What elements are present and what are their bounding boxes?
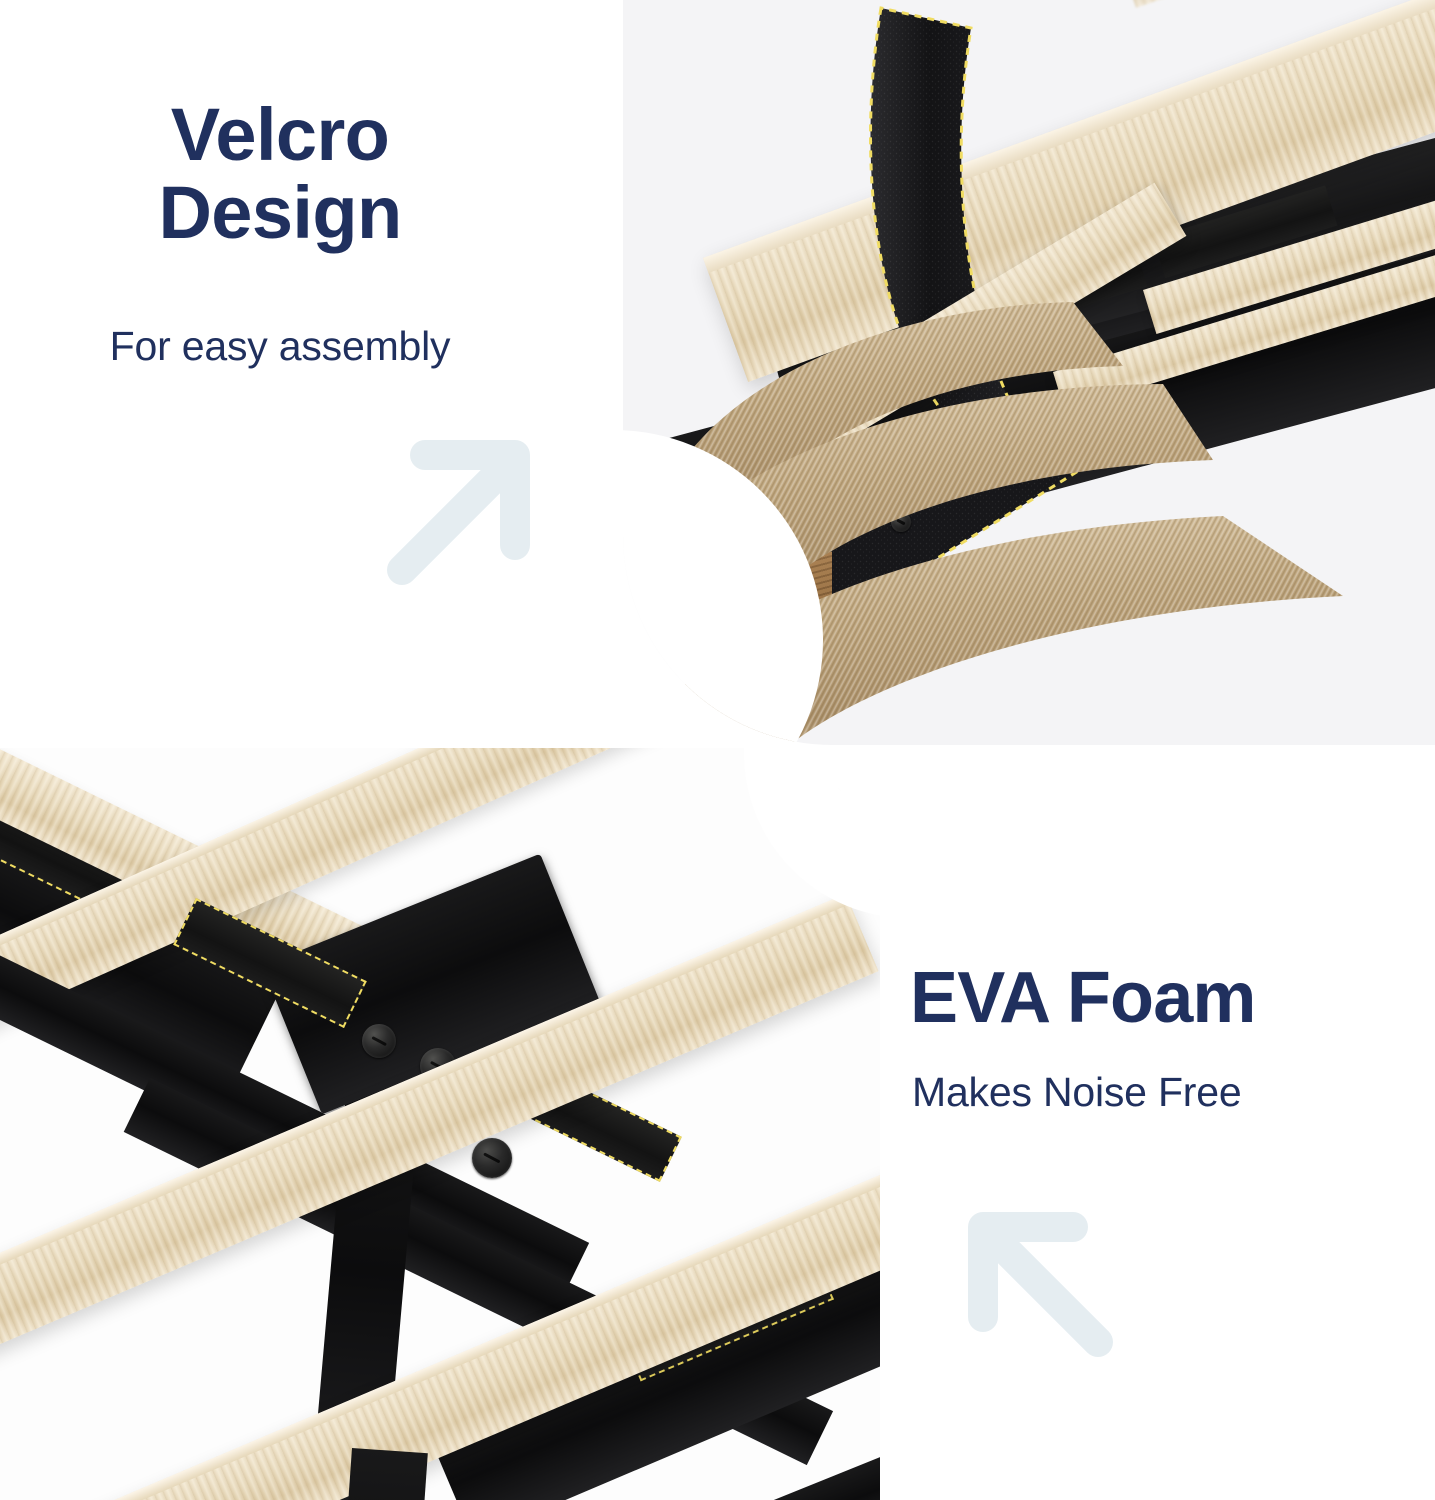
photo-corner-mask-bottom	[744, 748, 880, 918]
infographic-canvas: Velcro Design For easy assembly	[0, 0, 1435, 1500]
velcro-design-copy-block: Velcro Design For easy assembly	[0, 0, 623, 745]
eva-foam-headline: EVA Foam	[910, 960, 1430, 1036]
arrow-up-left-icon	[952, 1196, 1122, 1366]
arrow-up-right-icon	[378, 424, 548, 594]
eva-foam-copy-block: EVA Foam Makes Noise Free	[880, 748, 1435, 1500]
velcro-design-photo	[623, 0, 1435, 745]
velcro-design-subline: For easy assembly	[0, 322, 560, 371]
velcro-design-headline-line-2: Design	[0, 174, 560, 252]
photo-screw-4	[472, 1138, 512, 1178]
top-section: Velcro Design For easy assembly	[0, 0, 1435, 745]
eva-foam-photo	[0, 748, 880, 1500]
velcro-design-headline: Velcro Design	[0, 96, 560, 253]
velcro-design-headline-line-1: Velcro	[0, 96, 560, 174]
eva-foam-subline: Makes Noise Free	[912, 1068, 1432, 1117]
bottom-section: EVA Foam Makes Noise Free	[0, 748, 1435, 1500]
photo-screw-2	[362, 1024, 396, 1058]
